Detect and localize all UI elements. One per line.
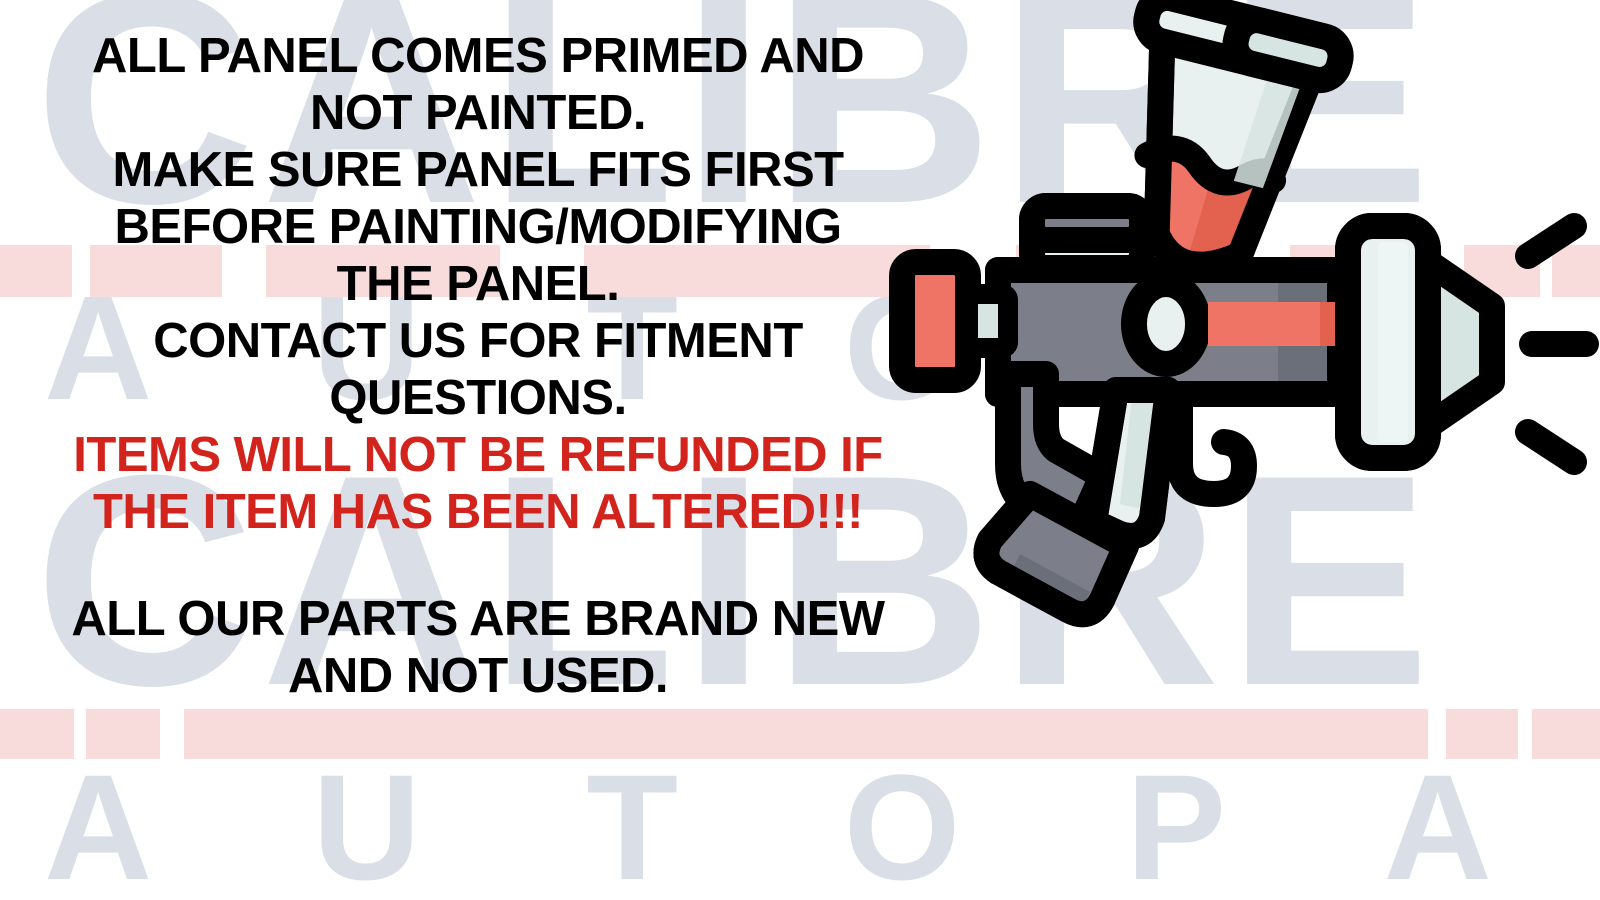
- spray-lines: [1528, 226, 1586, 462]
- notice-line: BEFORE PAINTING/MODIFYING: [58, 199, 898, 256]
- band-notch: [1518, 709, 1532, 759]
- promo-banner: CALIBRE A U T O P A R T S CALIBRE A U T …: [0, 0, 1600, 900]
- notice-line: THE PANEL.: [58, 256, 898, 313]
- paint-spray-gun-icon: [880, 0, 1600, 654]
- notice-line: QUESTIONS.: [58, 370, 898, 427]
- notice-line: MAKE SURE PANEL FITS FIRST: [58, 142, 898, 199]
- notice-text-block: ALL PANEL COMES PRIMED AND NOT PAINTED. …: [58, 28, 898, 705]
- accent-band-bottom: [0, 709, 1600, 759]
- notice-line: NOT PAINTED.: [58, 85, 898, 142]
- notice-line: CONTACT US FOR FITMENT: [58, 313, 898, 370]
- notice-line-warning: THE ITEM HAS BEEN ALTERED!!!: [58, 484, 898, 541]
- band-notch: [1428, 709, 1446, 759]
- notice-line: ALL OUR PARTS ARE BRAND NEW: [58, 591, 898, 648]
- notice-line-spacer: [58, 541, 898, 591]
- band-notch: [160, 709, 184, 759]
- notice-line-warning: ITEMS WILL NOT BE REFUNDED IF: [58, 427, 898, 484]
- notice-line: ALL PANEL COMES PRIMED AND: [58, 28, 898, 85]
- band-notch: [74, 709, 86, 759]
- notice-line: AND NOT USED.: [58, 648, 898, 705]
